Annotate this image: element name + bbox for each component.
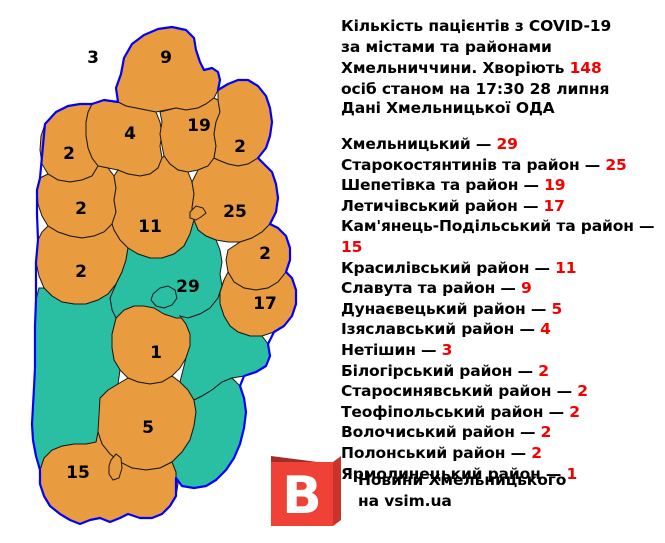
district-name: Славута та район — (341, 279, 521, 297)
map-label-krasyliv: 11 (138, 217, 162, 237)
map-label-starosyniava: 2 (259, 244, 271, 264)
district-cases: 2 (541, 423, 552, 441)
footer-credit: Новини Хмельницького на vsim.ua (358, 470, 658, 512)
list-item: Дунаєвецький район — 5 (341, 299, 665, 320)
district-case-list: Хмельницький — 29 Старокостянтинів та ра… (341, 134, 665, 484)
district-cases: 3 (442, 341, 453, 359)
district-name: Шепетівка та район — (341, 176, 544, 194)
district-name: Волочиський район — (341, 423, 541, 441)
map-label-netishyn: 3 (87, 48, 99, 68)
map-label-letychiv: 17 (253, 294, 277, 314)
district-cases: 17 (544, 197, 565, 215)
map-label-slavuta: 9 (160, 48, 172, 68)
data-source-label: Дані Хмельницької ОДА (341, 99, 555, 117)
map-label-bilohirya: 2 (63, 144, 75, 164)
map-label-starokost: 25 (223, 202, 247, 222)
list-item: Старокостянтинів та район — 25 (341, 155, 665, 176)
list-item: Білогірський район — 2 (341, 361, 665, 382)
map-label-dunaivtsi: 5 (142, 418, 154, 438)
map-label-khmelnytskyi: 29 (176, 277, 200, 297)
list-item: Полонський район — 2 (341, 443, 665, 464)
headline-line-4: осіб станом на 17:30 28 липня (341, 80, 609, 98)
list-item: Хмельницький — 29 (341, 134, 665, 155)
district-name: Білогірський район — (341, 362, 538, 380)
district-name: Нетішин — (341, 341, 442, 359)
district-cases: 5 (551, 300, 562, 318)
district-cases: 25 (605, 156, 626, 174)
district-name: Старосинявський район — (341, 382, 577, 400)
page-title: Кількість пацієнтів з COVID-19 за містам… (341, 16, 663, 100)
list-item: Летичівський район — 17 (341, 196, 665, 217)
map-label-yarmolyntsi: 1 (150, 343, 162, 363)
district-name: Хмельницький — (341, 135, 496, 153)
district-cases: 29 (496, 135, 517, 153)
list-item: Ізяславський район — 4 (341, 319, 665, 340)
district-name: Ізяславський район — (341, 320, 540, 338)
info-panel: Кількість пацієнтів з COVID-19 за містам… (341, 0, 665, 543)
list-item: Старосинявський район — 2 (341, 381, 665, 402)
map-label-volochysk: 2 (75, 262, 87, 282)
district-cases: 19 (544, 176, 565, 194)
list-item: Волочиський район — 2 (341, 422, 665, 443)
district-name: Летичівський район — (341, 197, 544, 215)
district-name: Красилівський район — (341, 259, 555, 277)
district-cases: 2 (531, 444, 542, 462)
district-name: Теофіпольський район — (341, 403, 569, 421)
list-item: Шепетівка та район — 19 (341, 175, 665, 196)
list-item: Кам'янець-Подільський та район — 15 (341, 216, 665, 257)
headline-line-1: Кількість пацієнтів з COVID-19 (341, 17, 611, 35)
headline-line-3: Хмельниччини. Хворіють (341, 59, 570, 77)
list-item: Славута та район — 9 (341, 278, 665, 299)
district-name: Дунаєвецький район — (341, 300, 551, 318)
list-item: Теофіпольський район — 2 (341, 402, 665, 423)
district-name: Кам'янець-Подільський та район — (341, 217, 654, 235)
map-label-teofipol: 2 (75, 199, 87, 219)
district-cases: 11 (555, 259, 576, 277)
district-cases: 15 (341, 238, 362, 256)
total-cases-value: 148 (570, 59, 602, 77)
map-label-polonne: 2 (234, 137, 246, 157)
map-label-shepetivka: 19 (187, 116, 211, 136)
list-item: Красилівський район — 11 (341, 258, 665, 279)
logo-side-shade (333, 456, 341, 526)
vsim-logo-icon[interactable]: B (271, 454, 341, 526)
district-name: Старокостянтинів та район — (341, 156, 605, 174)
footer-line-1: Новини Хмельницького (358, 471, 566, 489)
district-cases: 2 (569, 403, 580, 421)
district-cases: 9 (521, 279, 532, 297)
headline-line-2: за містами та районами (341, 38, 552, 56)
map-label-izyaslav: 4 (124, 124, 136, 144)
district-cases: 2 (577, 382, 588, 400)
district-name: Полонський район — (341, 444, 531, 462)
list-item: Нетішин — 3 (341, 340, 665, 361)
district-cases: 2 (538, 362, 549, 380)
map-label-kamianets: 15 (66, 463, 90, 483)
footer-line-2: на vsim.ua (358, 492, 452, 510)
logo-letter: B (282, 466, 322, 526)
district-cases: 4 (540, 320, 551, 338)
